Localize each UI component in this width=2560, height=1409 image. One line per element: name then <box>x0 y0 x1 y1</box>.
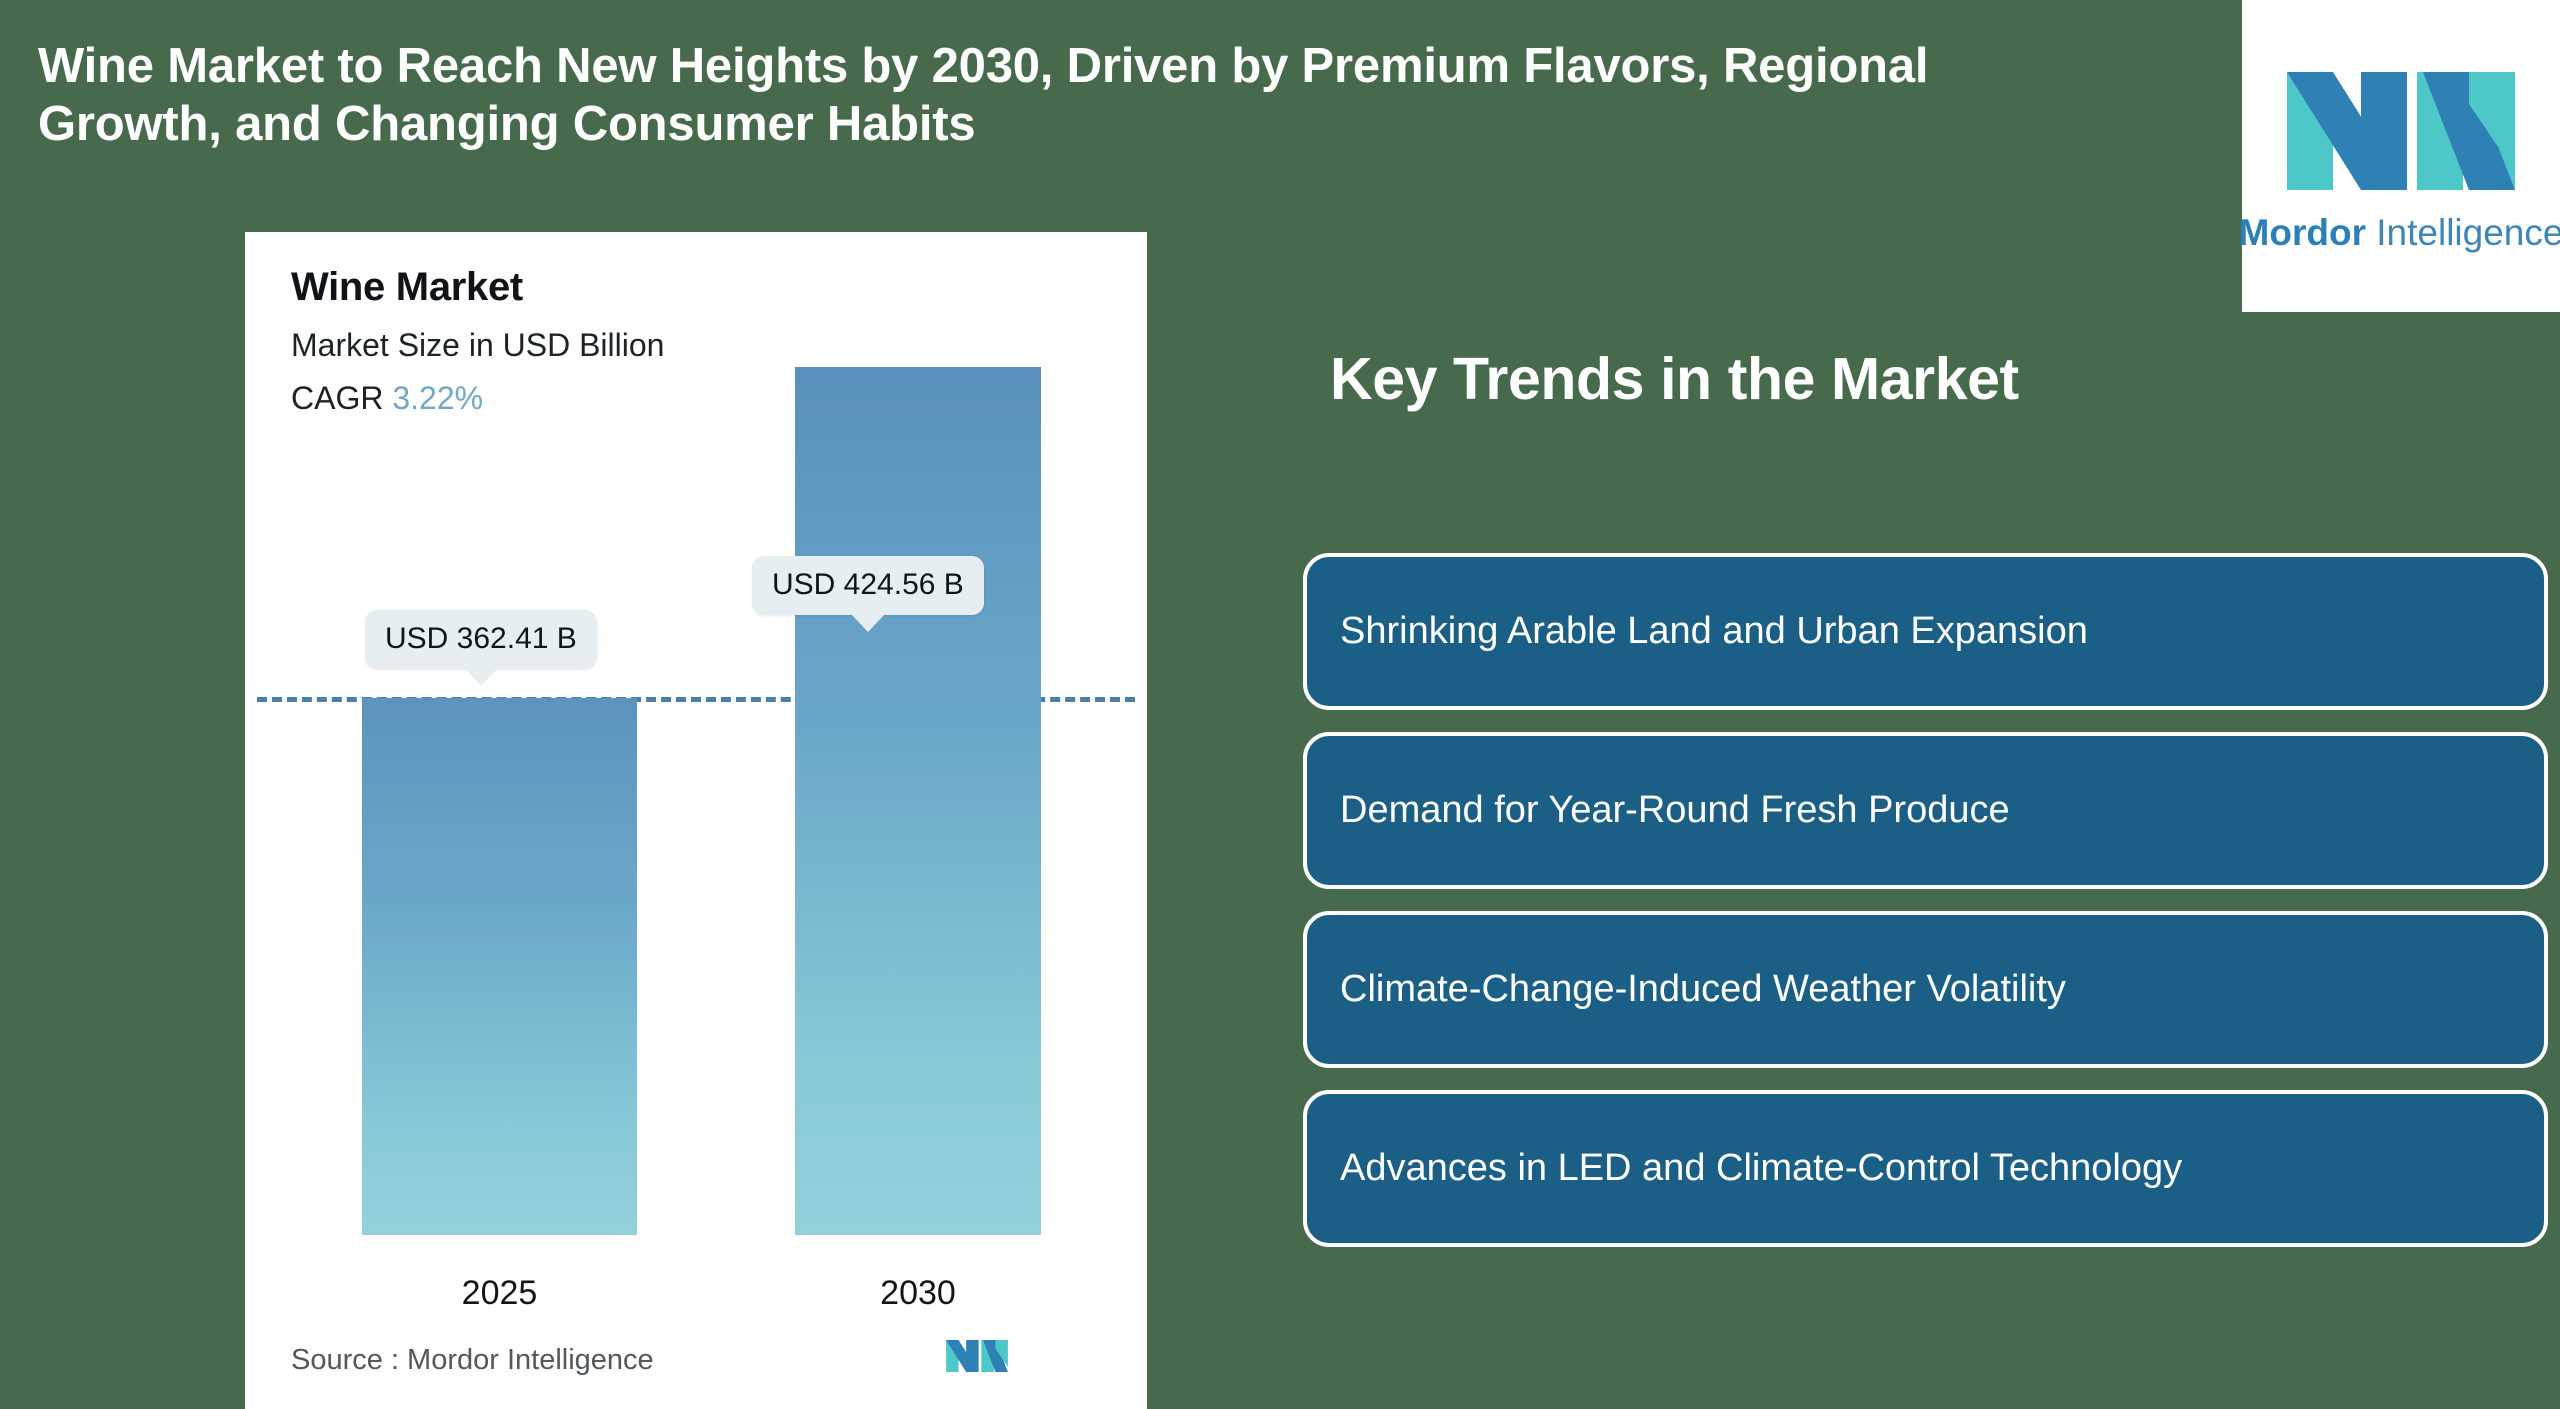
trend-card-3[interactable]: Climate-Change-Induced Weather Volatilit… <box>1303 911 2548 1068</box>
infographic-canvas: Wine Market to Reach New Heights by 2030… <box>0 0 2560 1409</box>
trend-card-label: Demand for Year-Round Fresh Produce <box>1340 789 2010 833</box>
x-axis-tick-2030: 2030 <box>795 1274 1041 1313</box>
trend-card-4[interactable]: Advances in LED and Climate-Control Tech… <box>1303 1090 2548 1247</box>
mordor-intelligence-mark-icon <box>945 1333 1009 1379</box>
page-title: Wine Market to Reach New Heights by 2030… <box>38 38 2098 154</box>
bar-2025 <box>362 698 637 1235</box>
bar-2030 <box>795 367 1041 1235</box>
brand-word-mordor: Mordor <box>2239 212 2366 253</box>
x-axis-tick-2025: 2025 <box>362 1274 637 1313</box>
trend-card-1[interactable]: Shrinking Arable Land and Urban Expansio… <box>1303 553 2548 710</box>
bar-chart-plot-area: USD 362.41 B USD 424.56 B 2025 2030 <box>245 232 1147 1409</box>
brand-wordmark: Mordor Intelligence <box>2239 214 2560 251</box>
key-trends-list: Shrinking Arable Land and Urban Expansio… <box>1303 553 2548 1269</box>
trend-card-label: Advances in LED and Climate-Control Tech… <box>1340 1147 2182 1191</box>
trend-card-2[interactable]: Demand for Year-Round Fresh Produce <box>1303 732 2548 889</box>
brand-word-intelligence: Intelligence <box>2366 212 2560 253</box>
trend-card-label: Shrinking Arable Land and Urban Expansio… <box>1340 610 2088 654</box>
value-label-2025: USD 362.41 B <box>365 610 597 669</box>
trend-card-label: Climate-Change-Induced Weather Volatilit… <box>1340 968 2066 1012</box>
brand-logo: Mordor Intelligence <box>2242 0 2560 312</box>
value-label-2030: USD 424.56 B <box>752 556 984 615</box>
mordor-intelligence-mark-icon <box>2283 62 2519 200</box>
chart-source: Source : Mordor Intelligence <box>291 1344 654 1377</box>
key-trends-heading: Key Trends in the Market <box>1330 345 2019 413</box>
chart-card: Wine Market Market Size in USD Billion C… <box>245 232 1147 1409</box>
